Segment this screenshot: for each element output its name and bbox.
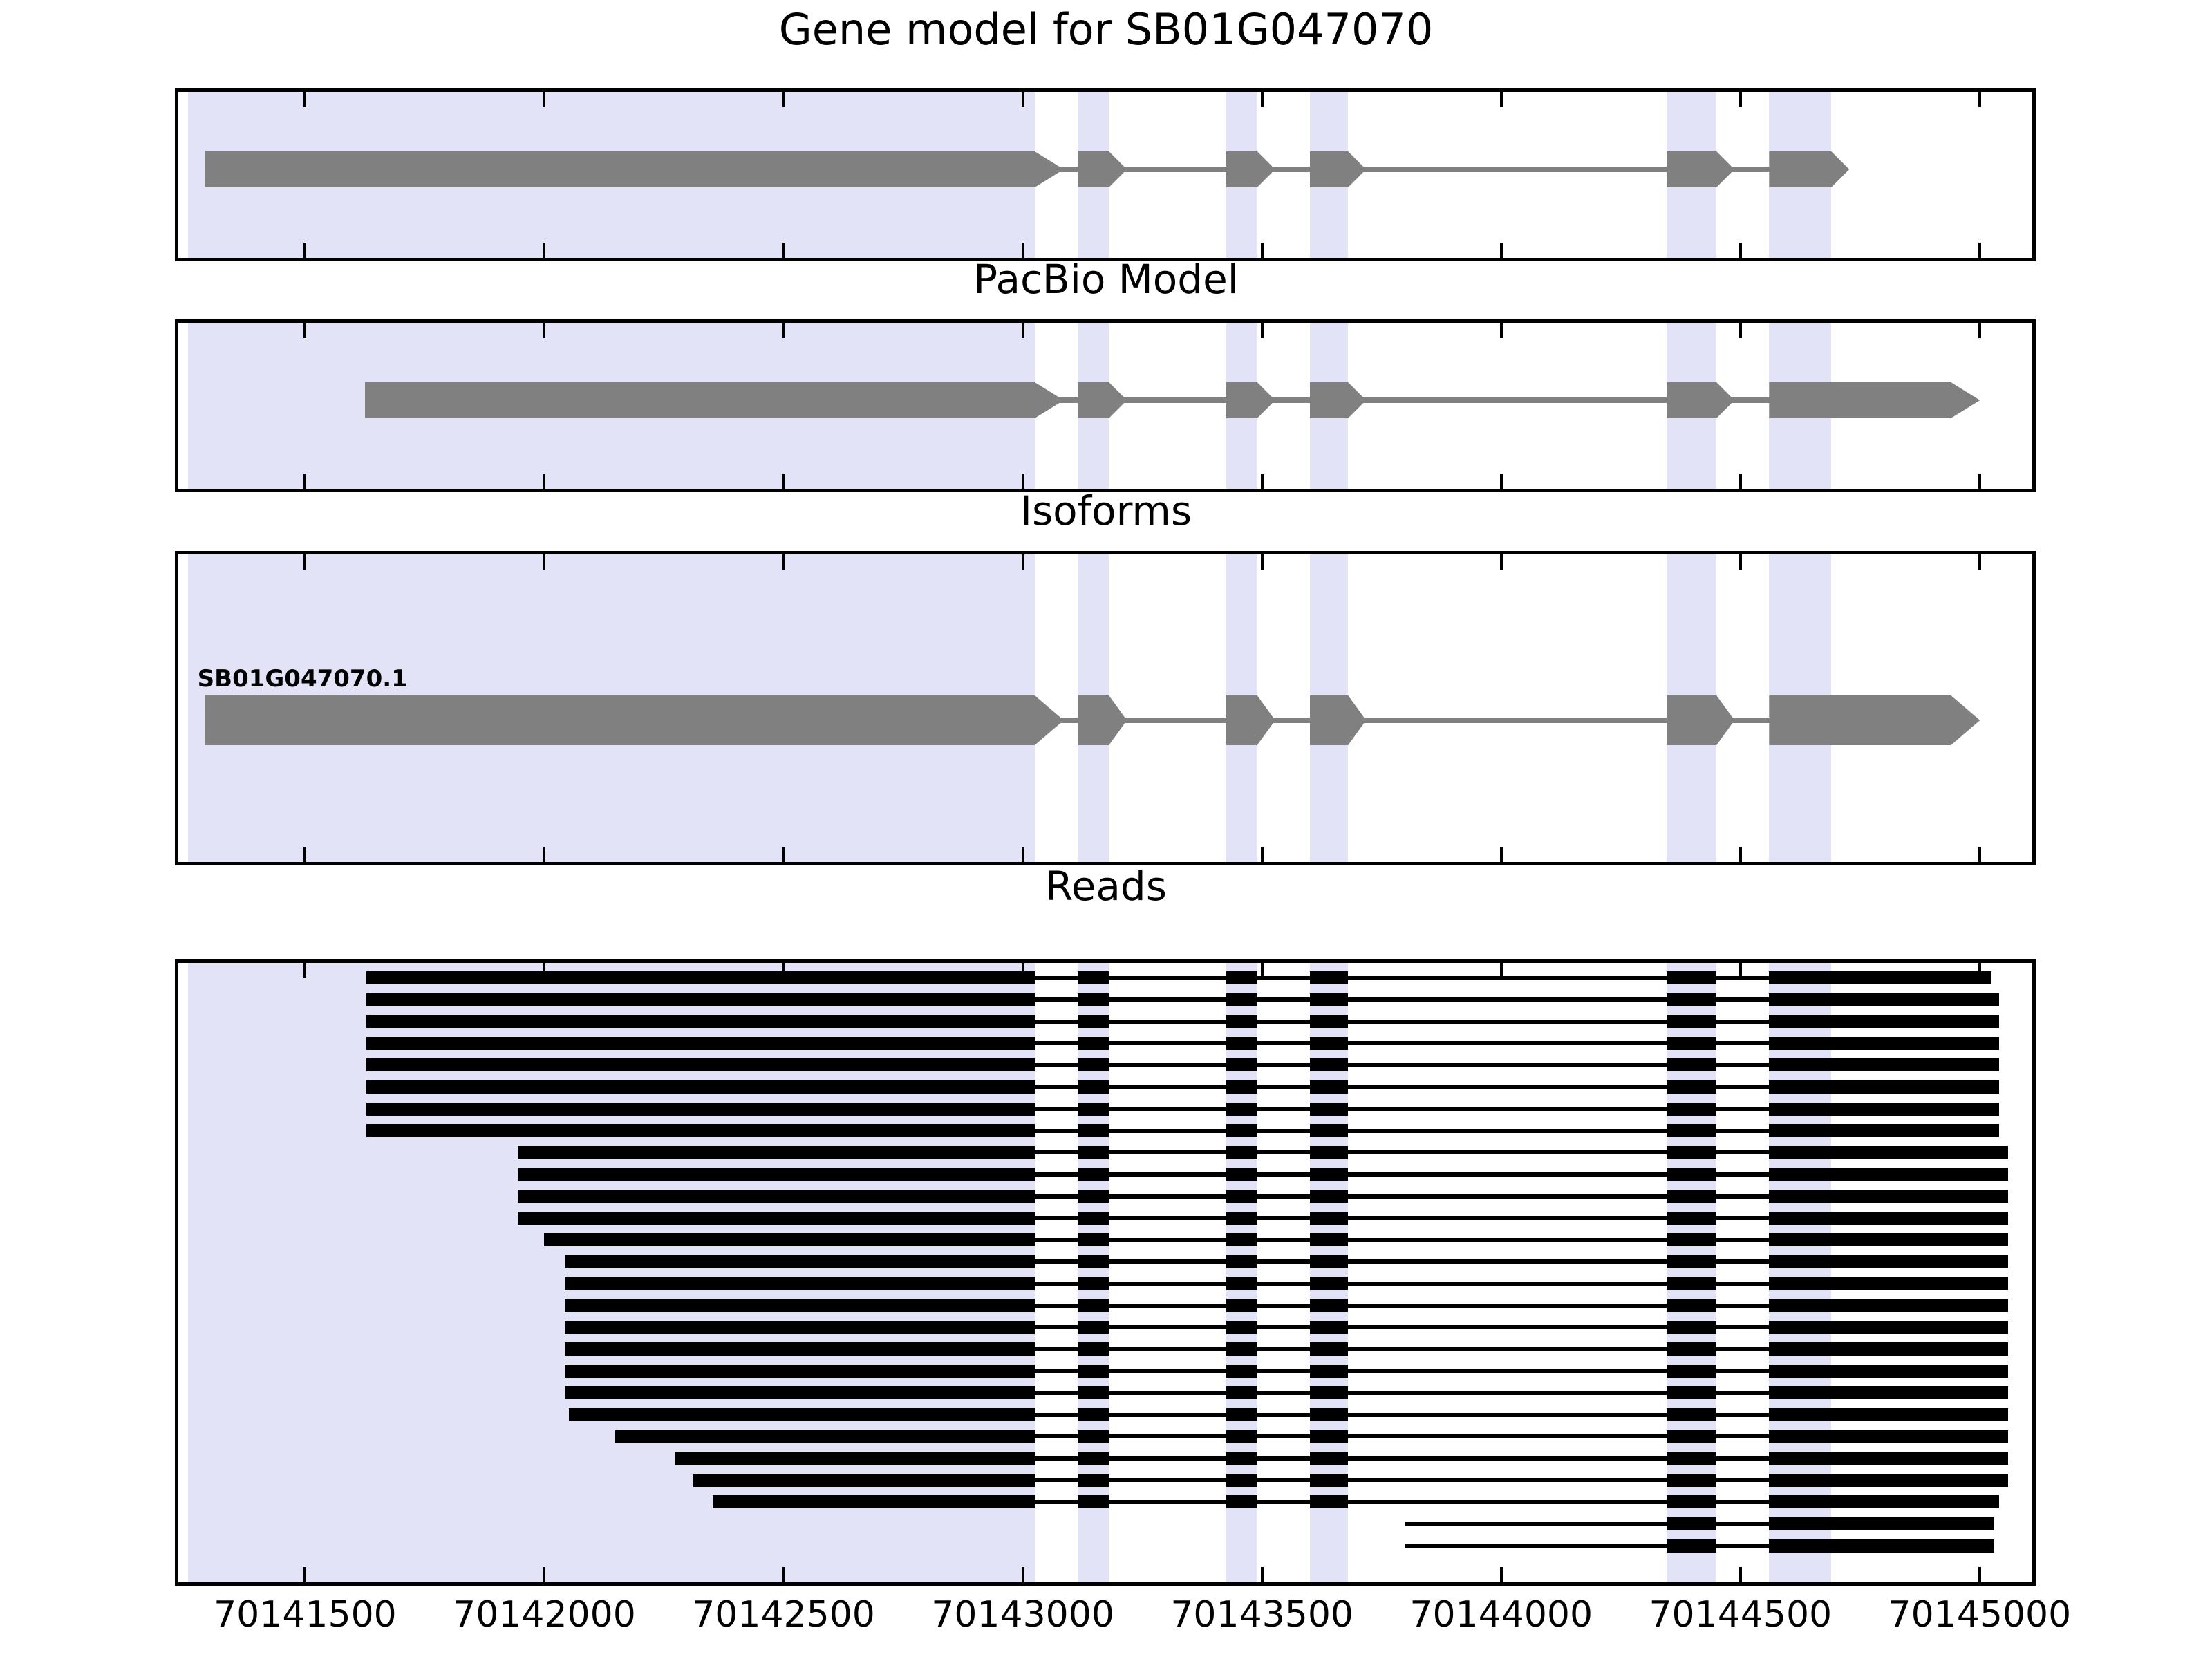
- read-exon-block: [1078, 1080, 1109, 1094]
- read-exon-block: [693, 1474, 1034, 1487]
- read-exon-block: [1078, 1233, 1109, 1246]
- read-exon-block: [1226, 993, 1257, 1006]
- read-exon-block: [544, 1233, 1034, 1246]
- read-exon-block: [1769, 1517, 1994, 1530]
- read-exon-block: [1667, 1408, 1717, 1421]
- read-exon-block: [1078, 1495, 1109, 1508]
- axis-tick: [1022, 847, 1024, 862]
- read-exon-block: [1226, 1233, 1257, 1246]
- read-exon-block: [615, 1430, 1035, 1443]
- exon-region-band: [1078, 963, 1109, 1582]
- read-exon-block: [1310, 1080, 1348, 1094]
- x-tick-label: 70141500: [214, 1594, 397, 1635]
- axis-tick: [1978, 847, 1981, 862]
- exon-block: [1078, 695, 1127, 745]
- read-exon-block: [1226, 1365, 1257, 1378]
- read-exon-block: [1667, 1342, 1717, 1356]
- axis-tick: [303, 92, 306, 107]
- read-exon-block: [1078, 1474, 1109, 1487]
- axis-tick: [303, 323, 306, 338]
- read-exon-block: [1667, 1539, 1717, 1553]
- read-exon-block: [1310, 1037, 1348, 1050]
- read-exon-block: [1769, 1539, 1994, 1553]
- panel-pacbio-model: [175, 319, 2036, 492]
- read-exon-block: [1667, 1233, 1717, 1246]
- axis-tick: [782, 847, 785, 862]
- read-exon-block: [1310, 1495, 1348, 1508]
- read-exon-block: [1078, 1386, 1109, 1399]
- axis-tick: [782, 92, 785, 107]
- read-exon-block: [366, 971, 1035, 984]
- read-exon-block: [1667, 1058, 1717, 1071]
- read-exon-block: [565, 1299, 1035, 1312]
- axis-tick: [1022, 474, 1024, 489]
- axis-tick: [543, 323, 545, 338]
- read-exon-block: [1667, 1517, 1717, 1530]
- axis-tick: [1978, 474, 1981, 489]
- read-exon-block: [1226, 1430, 1257, 1443]
- exon-block: [1769, 382, 1980, 418]
- read-exon-block: [1226, 1168, 1257, 1181]
- read-exon-block: [1769, 1277, 2008, 1290]
- axis-tick: [1022, 1567, 1024, 1582]
- axis-tick: [1261, 1567, 1264, 1582]
- axis-tick: [1978, 554, 1981, 570]
- axis-tick: [303, 963, 306, 978]
- read-exon-block: [1769, 1321, 2008, 1334]
- read-exon-block: [1310, 1452, 1348, 1465]
- read-exon-block: [1310, 1168, 1348, 1181]
- axis-tick: [303, 1567, 306, 1582]
- exon-block: [1667, 382, 1735, 418]
- axis-tick: [782, 1567, 785, 1582]
- read-exon-block: [1078, 1037, 1109, 1050]
- read-exon-block: [1310, 1430, 1348, 1443]
- read-exon-block: [1226, 1321, 1257, 1334]
- axis-tick: [1500, 554, 1503, 570]
- axis-tick: [543, 474, 545, 489]
- read-exon-block: [518, 1212, 1035, 1225]
- exon-region-band: [1769, 963, 1831, 1582]
- read-exon-block: [1226, 1386, 1257, 1399]
- read-exon-block: [1667, 1255, 1717, 1268]
- read-exon-block: [1667, 1015, 1717, 1028]
- pacbio-title: PacBio Model: [0, 256, 2212, 303]
- read-exon-block: [366, 1058, 1035, 1071]
- read-exon-block: [1769, 1080, 1998, 1094]
- read-exon-block: [1769, 1386, 2008, 1399]
- read-exon-block: [1078, 1299, 1109, 1312]
- read-exon-block: [1667, 1386, 1717, 1399]
- read-exon-block: [1667, 1277, 1717, 1290]
- read-exon-block: [1769, 1430, 2008, 1443]
- exon-block: [365, 382, 1064, 418]
- axis-tick: [1978, 1567, 1981, 1582]
- exon-region-band: [1310, 963, 1348, 1582]
- axis-tick: [1739, 323, 1742, 338]
- read-exon-block: [1226, 1190, 1257, 1203]
- read-exon-block: [366, 993, 1035, 1006]
- read-exon-block: [1667, 993, 1717, 1006]
- read-exon-block: [1667, 1452, 1717, 1465]
- exon-block: [1769, 151, 1849, 187]
- isoforms-title: Isoforms: [0, 487, 2212, 534]
- read-exon-block: [1078, 1168, 1109, 1181]
- read-exon-block: [1078, 1124, 1109, 1137]
- axis-tick: [782, 554, 785, 570]
- read-exon-block: [1078, 1408, 1109, 1421]
- axis-tick: [303, 474, 306, 489]
- read-exon-block: [713, 1495, 1035, 1508]
- read-exon-block: [1769, 1058, 1998, 1071]
- read-exon-block: [1078, 993, 1109, 1006]
- read-exon-block: [1667, 1474, 1717, 1487]
- axis-tick: [1739, 554, 1742, 570]
- axis-tick: [1261, 92, 1264, 107]
- read-exon-block: [1310, 1365, 1348, 1378]
- main-title: Gene model for SB01G047070: [0, 4, 2212, 55]
- read-exon-block: [1078, 1277, 1109, 1290]
- read-exon-block: [1769, 1365, 2008, 1378]
- read-exon-block: [1078, 1058, 1109, 1071]
- read-exon-block: [1226, 1277, 1257, 1290]
- genome-browser-figure: Gene model for SB01G047070 PacBio Model …: [0, 0, 2212, 1659]
- read-exon-block: [1769, 1168, 2008, 1181]
- read-exon-block: [1769, 1103, 1998, 1116]
- read-exon-block: [1667, 1430, 1717, 1443]
- read-exon-block: [1226, 1037, 1257, 1050]
- read-exon-block: [565, 1386, 1035, 1399]
- read-exon-block: [1769, 1015, 1998, 1028]
- panel-reads: [175, 959, 2036, 1586]
- read-exon-block: [565, 1365, 1035, 1378]
- read-exon-block: [1769, 1408, 2008, 1421]
- axis-tick: [1739, 474, 1742, 489]
- axis-tick: [303, 847, 306, 862]
- x-tick-label: 70142500: [692, 1594, 875, 1635]
- read-exon-block: [565, 1277, 1035, 1290]
- read-exon-block: [1667, 1321, 1717, 1334]
- exon-block: [1078, 382, 1127, 418]
- read-exon-block: [1078, 1015, 1109, 1028]
- axis-tick: [543, 554, 545, 570]
- read-exon-block: [1667, 1365, 1717, 1378]
- exon-block: [205, 695, 1064, 745]
- read-exon-block: [1667, 1080, 1717, 1094]
- exon-block: [1769, 695, 1980, 745]
- read-exon-block: [1226, 1212, 1257, 1225]
- axis-tick: [543, 847, 545, 862]
- read-exon-block: [1310, 1408, 1348, 1421]
- read-exon-block: [1667, 1146, 1717, 1159]
- exon-block: [1226, 695, 1275, 745]
- exon-block: [1667, 695, 1735, 745]
- read-exon-block: [569, 1408, 1034, 1421]
- exon-block: [1310, 382, 1366, 418]
- exon-block: [1226, 382, 1275, 418]
- read-exon-block: [1226, 1255, 1257, 1268]
- read-exon-block: [1769, 1190, 2008, 1203]
- read-exon-block: [1310, 1474, 1348, 1487]
- axis-tick: [1739, 1567, 1742, 1582]
- read-exon-block: [1078, 1103, 1109, 1116]
- x-tick-label: 70144500: [1649, 1594, 1832, 1635]
- read-exon-block: [1310, 1190, 1348, 1203]
- read-exon-block: [1226, 1495, 1257, 1508]
- read-exon-block: [518, 1146, 1035, 1159]
- axis-tick: [1022, 323, 1024, 338]
- read-exon-block: [1078, 1321, 1109, 1334]
- read-exon-block: [1078, 1212, 1109, 1225]
- read-exon-block: [1226, 1342, 1257, 1356]
- read-exon-block: [1226, 1299, 1257, 1312]
- read-exon-block: [1310, 971, 1348, 984]
- read-exon-block: [1667, 1037, 1717, 1050]
- isoform-label: SB01G047070.1: [198, 665, 408, 693]
- exon-block: [1310, 695, 1366, 745]
- read-exon-block: [1310, 1124, 1348, 1137]
- read-exon-block: [1078, 1452, 1109, 1465]
- read-exon-block: [1310, 1386, 1348, 1399]
- read-exon-block: [1310, 1058, 1348, 1071]
- read-exon-block: [1769, 1299, 2008, 1312]
- read-exon-block: [1226, 1015, 1257, 1028]
- read-exon-block: [366, 1103, 1035, 1116]
- read-exon-block: [1310, 993, 1348, 1006]
- read-exon-block: [1310, 1015, 1348, 1028]
- read-exon-block: [518, 1168, 1035, 1181]
- read-exon-block: [1226, 971, 1257, 984]
- axis-tick: [1739, 92, 1742, 107]
- axis-tick: [543, 92, 545, 107]
- read-exon-block: [1226, 1058, 1257, 1071]
- read-exon-block: [565, 1321, 1035, 1334]
- read-exon-block: [1769, 971, 1991, 984]
- read-exon-block: [565, 1342, 1035, 1356]
- exon-block: [1078, 151, 1127, 187]
- read-exon-block: [1310, 1255, 1348, 1268]
- exon-block: [1667, 151, 1735, 187]
- axis-tick: [1500, 847, 1503, 862]
- read-exon-block: [1078, 1146, 1109, 1159]
- axis-tick: [782, 323, 785, 338]
- axis-tick: [1261, 474, 1264, 489]
- read-exon-block: [1667, 1168, 1717, 1181]
- read-exon-block: [1769, 1452, 2008, 1465]
- exon-region-band: [1667, 963, 1717, 1582]
- read-exon-block: [1310, 1233, 1348, 1246]
- read-exon-block: [1226, 1124, 1257, 1137]
- panel-isoforms: SB01G047070.1: [175, 551, 2036, 865]
- read-exon-block: [1667, 1212, 1717, 1225]
- axis-tick: [1500, 1567, 1503, 1582]
- x-tick-label: 70143000: [931, 1594, 1114, 1635]
- read-exon-block: [1226, 1103, 1257, 1116]
- read-exon-block: [1226, 1080, 1257, 1094]
- axis-tick: [1261, 847, 1264, 862]
- read-exon-block: [1667, 1299, 1717, 1312]
- axis-tick: [1500, 92, 1503, 107]
- exon-block: [1310, 151, 1366, 187]
- axis-tick: [1261, 554, 1264, 570]
- read-exon-block: [1226, 1452, 1257, 1465]
- read-exon-block: [1310, 1277, 1348, 1290]
- read-exon-block: [1769, 1212, 2008, 1225]
- axis-tick: [1739, 847, 1742, 862]
- read-exon-block: [1310, 1342, 1348, 1356]
- read-exon-block: [1769, 1474, 2008, 1487]
- axis-tick: [1022, 92, 1024, 107]
- panel-gene-model: [175, 88, 2036, 261]
- read-exon-block: [366, 1124, 1035, 1137]
- axis-tick: [303, 554, 306, 570]
- axis-tick: [1022, 554, 1024, 570]
- axis-tick: [1500, 474, 1503, 489]
- read-exon-block: [1226, 1408, 1257, 1421]
- x-tick-label: 70143500: [1170, 1594, 1353, 1635]
- read-exon-block: [1226, 1146, 1257, 1159]
- exon-block: [205, 151, 1064, 187]
- read-exon-block: [1769, 1233, 2008, 1246]
- read-exon-block: [366, 1037, 1035, 1050]
- read-exon-block: [518, 1190, 1035, 1203]
- read-exon-block: [675, 1452, 1035, 1465]
- read-exon-block: [1310, 1299, 1348, 1312]
- read-exon-block: [1226, 1474, 1257, 1487]
- read-exon-block: [1667, 1103, 1717, 1116]
- read-exon-block: [1769, 1146, 2008, 1159]
- read-exon-block: [1769, 1124, 1998, 1137]
- read-exon-block: [1310, 1212, 1348, 1225]
- read-exon-block: [1310, 1146, 1348, 1159]
- exon-region-band: [188, 963, 1035, 1582]
- read-exon-block: [1078, 1342, 1109, 1356]
- read-exon-block: [366, 1015, 1035, 1028]
- read-exon-block: [565, 1255, 1035, 1268]
- axis-tick: [1500, 323, 1503, 338]
- read-exon-block: [366, 1080, 1035, 1094]
- x-tick-label: 70145000: [1888, 1594, 2072, 1635]
- axis-tick: [782, 474, 785, 489]
- read-exon-block: [1078, 1190, 1109, 1203]
- read-exon-block: [1769, 1037, 1998, 1050]
- read-exon-block: [1769, 1255, 2008, 1268]
- axis-tick: [1978, 323, 1981, 338]
- reads-title: Reads: [0, 863, 2212, 910]
- read-exon-block: [1078, 971, 1109, 984]
- read-exon-block: [1310, 1321, 1348, 1334]
- read-exon-block: [1078, 1365, 1109, 1378]
- read-exon-block: [1769, 1495, 1998, 1508]
- read-exon-block: [1769, 993, 1998, 1006]
- x-tick-label: 70144000: [1409, 1594, 1593, 1635]
- axis-tick: [1978, 92, 1981, 107]
- read-exon-block: [1078, 1255, 1109, 1268]
- read-exon-block: [1078, 1430, 1109, 1443]
- exon-block: [1226, 151, 1275, 187]
- read-exon-block: [1667, 1495, 1717, 1508]
- axis-tick: [543, 1567, 545, 1582]
- read-exon-block: [1310, 1103, 1348, 1116]
- axis-tick: [1261, 323, 1264, 338]
- read-exon-block: [1667, 1124, 1717, 1137]
- exon-region-band: [1226, 963, 1257, 1582]
- read-exon-block: [1769, 1342, 2008, 1356]
- read-exon-block: [1667, 971, 1717, 984]
- x-tick-label: 70142000: [453, 1594, 636, 1635]
- read-exon-block: [1667, 1190, 1717, 1203]
